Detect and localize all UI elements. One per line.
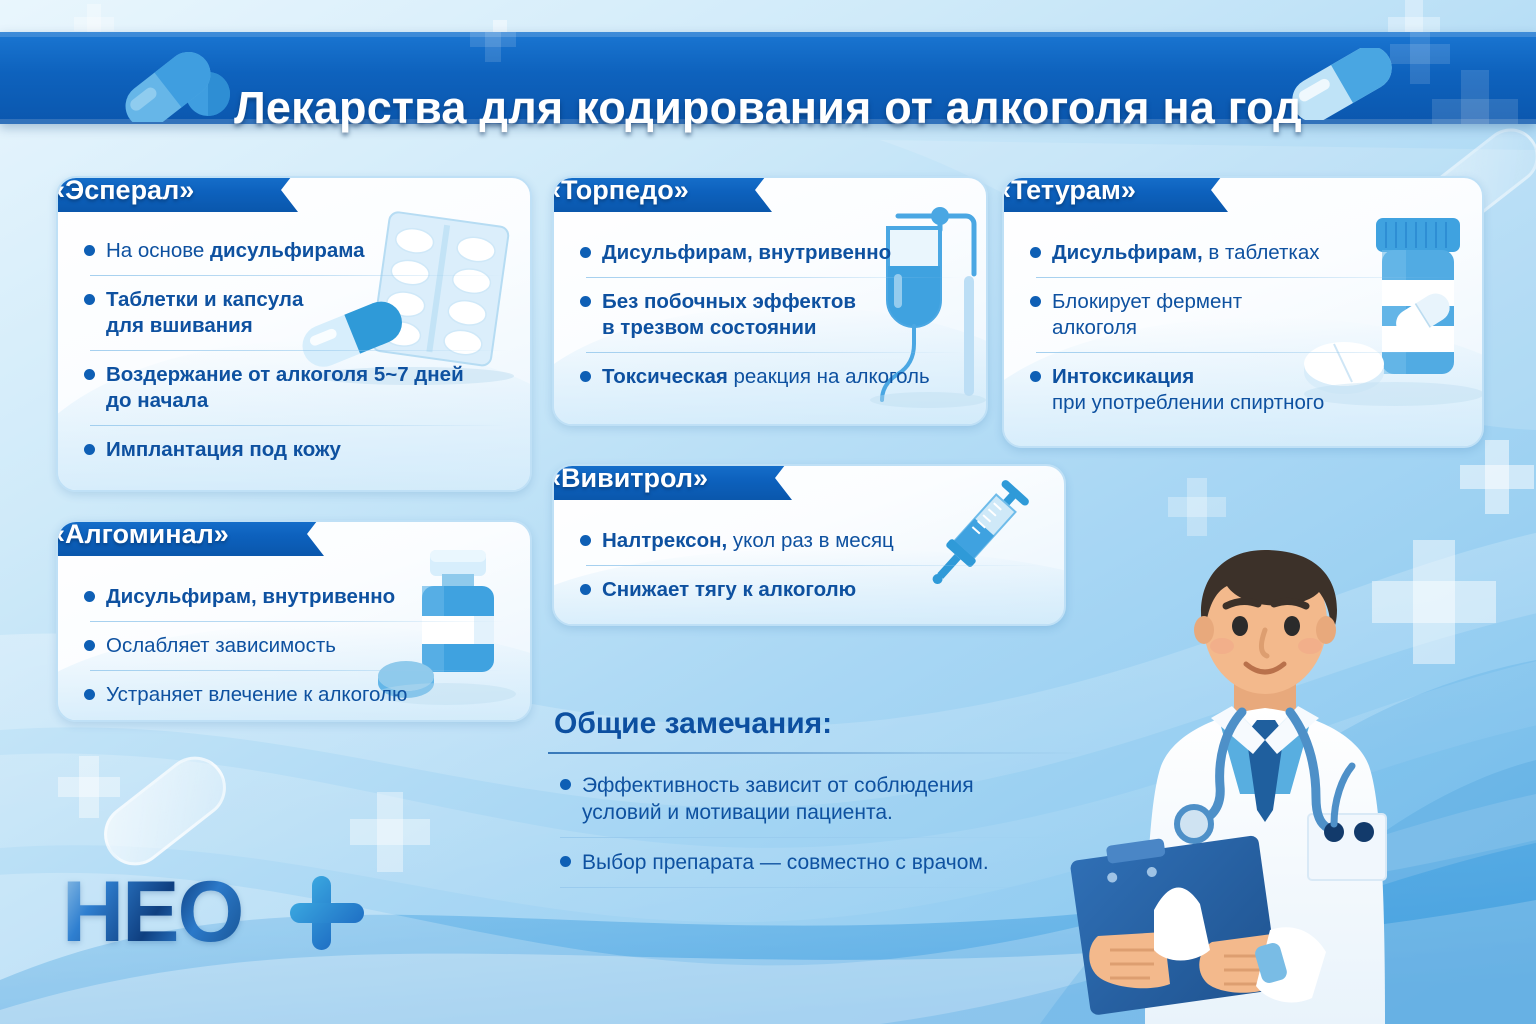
infographic-poster: Лекарства для кодирования от алкоголя на… — [0, 0, 1536, 1024]
decorative-capsule-icon — [92, 744, 239, 878]
bullet-text: Эффективность зависит от соблюденияуслов… — [582, 772, 974, 826]
list-item: Дисульфирам, внутривенно — [58, 584, 530, 610]
list-item: Дисульфирам, внутривенно — [554, 240, 986, 266]
bullet-text: На основе дисульфирама — [106, 238, 365, 264]
list-item: Блокирует ферменталкоголя — [1004, 289, 1482, 341]
card-title-esperal: «Эсперал» — [56, 176, 298, 212]
list-item: Устраняет влечение к алкоголю — [58, 682, 530, 708]
card-esperal: «Эсперал» На основе дисульфирама Таблетк… — [56, 176, 532, 492]
list-divider — [90, 425, 506, 426]
list-item: Токсическая реакция на алкоголь — [554, 364, 986, 390]
list-divider — [90, 350, 506, 351]
list-divider — [548, 752, 1084, 754]
list-item: Налтрексон, укол раз в месяц — [554, 528, 1064, 554]
bullet-dot — [84, 591, 95, 602]
bullet-dot — [580, 296, 591, 307]
list-divider — [586, 352, 962, 353]
list-divider — [90, 275, 506, 276]
list-item: Выбор препарата — совместно с врачом. — [548, 849, 1084, 876]
notes-title: Общие замечания: — [548, 706, 1084, 742]
card-torpedo: «Торпедо» Дисульфирам, внутривенно Без п… — [552, 176, 988, 426]
bullet-dot — [84, 294, 95, 305]
bullet-dot — [580, 247, 591, 258]
card-title-torpedo: «Торпедо» — [552, 176, 772, 212]
card-title-vivitrol: «Вивитрол» — [552, 464, 792, 500]
bullet-text: Дисульфирам, внутривенно — [106, 584, 395, 610]
list-item: Интоксикацияпри употреблении спиртного — [1004, 364, 1482, 416]
bullet-text: Выбор препарата — совместно с врачом. — [582, 849, 989, 876]
list-divider — [90, 670, 506, 671]
decorative-cross-icon — [1460, 440, 1534, 514]
card-algominal: «Алгоминал» Дисульфирам, внутривенно Осл… — [56, 520, 532, 722]
card-title-text: «Тетурам» — [1002, 176, 1136, 206]
bullet-text: Устраняет влечение к алкоголю — [106, 682, 407, 708]
bullet-dot — [1030, 296, 1041, 307]
list-divider — [560, 887, 1060, 888]
bullet-text: Имплантация под кожу — [106, 437, 341, 463]
bullet-text: Таблетки и капсуладля вшивания — [106, 287, 303, 339]
brand-logo: НЕО — [62, 866, 382, 958]
bullet-dot — [84, 444, 95, 455]
bullet-dot — [84, 640, 95, 651]
bullet-text: Снижает тягу к алкоголю — [602, 577, 856, 603]
list-item: Эффективность зависит от соблюденияуслов… — [548, 772, 1084, 826]
bullet-dot — [84, 369, 95, 380]
general-notes-block: Общие замечания: Эффективность зависит о… — [548, 706, 1084, 899]
card-title-algominal: «Алгоминал» — [56, 520, 324, 556]
bullet-text: Дисульфирам, внутривенно — [602, 240, 891, 266]
list-divider — [586, 277, 962, 278]
bullet-text: Блокирует ферменталкоголя — [1052, 289, 1242, 341]
decorative-cross-icon — [1168, 478, 1226, 536]
card-title-text: «Алгоминал» — [56, 520, 229, 550]
list-divider — [1036, 277, 1458, 278]
plus-icon — [290, 876, 364, 950]
bullet-dot — [580, 535, 591, 546]
list-item: Без побочных эффектовв трезвом состоянии — [554, 289, 986, 341]
decorative-cross-icon — [350, 792, 430, 872]
list-divider — [560, 837, 1060, 838]
bullet-text: Воздержание от алкоголя 5~7 днейдо начал… — [106, 362, 464, 414]
list-item: Воздержание от алкоголя 5~7 днейдо начал… — [58, 362, 530, 414]
card-title-text: «Вивитрол» — [552, 464, 708, 494]
card-vivitrol: «Вивитрол» Налтрексон, укол раз в месяц … — [552, 464, 1066, 626]
bullet-text: Интоксикацияпри употреблении спиртного — [1052, 364, 1324, 416]
list-divider — [90, 621, 506, 622]
list-divider — [586, 565, 1040, 566]
bullet-dot — [84, 689, 95, 700]
list-item: Снижает тягу к алкоголю — [554, 577, 1064, 603]
bullet-text: Ослабляет зависимость — [106, 633, 336, 659]
decorative-cross-icon — [1372, 540, 1496, 664]
page-title: Лекарства для кодирования от алкоголя на… — [0, 62, 1536, 154]
card-title-text: «Эсперал» — [56, 176, 194, 206]
list-item: На основе дисульфирама — [58, 238, 530, 264]
list-item: Имплантация под кожу — [58, 437, 530, 463]
decorative-cross-icon — [58, 756, 120, 818]
list-item: Дисульфирам, в таблетках — [1004, 240, 1482, 266]
card-title-teturam: «Тетурам» — [1002, 176, 1228, 212]
bullet-dot — [560, 779, 571, 790]
list-item: Таблетки и капсуладля вшивания — [58, 287, 530, 339]
bullet-dot — [580, 584, 591, 595]
bullet-dot — [1030, 247, 1041, 258]
bullet-text: Без побочных эффектовв трезвом состоянии — [602, 289, 856, 341]
bullet-dot — [560, 856, 571, 867]
card-title-text: «Торпедо» — [552, 176, 689, 206]
bullet-text: Токсическая реакция на алкоголь — [602, 364, 930, 390]
list-divider — [1036, 352, 1458, 353]
bullet-dot — [580, 371, 591, 382]
logo-text: НЕО — [62, 864, 242, 960]
bullet-text: Налтрексон, укол раз в месяц — [602, 528, 894, 554]
bullet-dot — [1030, 371, 1041, 382]
bullet-text: Дисульфирам, в таблетках — [1052, 240, 1320, 266]
doctor-with-clipboard-illustration — [1062, 512, 1536, 1024]
card-teturam: «Тетурам» Дисульфирам, в таблетках Блоки… — [1002, 176, 1484, 448]
list-item: Ослабляет зависимость — [58, 633, 530, 659]
bullet-dot — [84, 245, 95, 256]
